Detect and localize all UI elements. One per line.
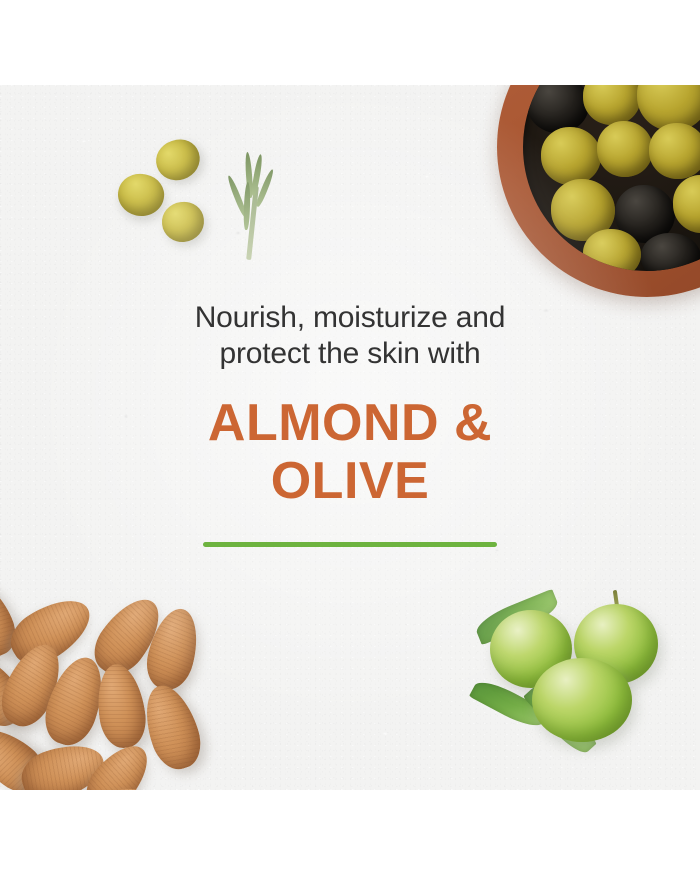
almond-cluster-image [0,580,244,790]
green-divider-rule [203,542,497,547]
subtitle-line-2: protect the skin with [220,337,481,370]
green-olive [673,175,700,233]
green-olive [583,85,641,125]
subtitle-line-1: Nourish, moisturize and [195,301,506,334]
green-olive-cluster-image [470,580,670,760]
green-olive [649,123,700,179]
green-olive [597,121,653,177]
banner-headline: ALMOND & OLIVE [0,394,700,510]
bowl-interior [523,85,700,271]
olive-trio-image [110,140,300,270]
small-olive [160,200,206,244]
black-olive [641,233,700,271]
banner-text-block: Nourish, moisturize and protect the skin… [0,300,700,547]
rosemary-sprig [220,152,290,262]
banner-subtitle: Nourish, moisturize and protect the skin… [0,300,700,372]
small-olive [151,134,205,186]
almond [92,661,149,751]
green-olive [532,658,632,742]
headline-line-2: OLIVE [271,452,430,510]
headline-line-1: ALMOND & [208,394,492,452]
green-olive [541,127,601,185]
small-olive [114,170,168,221]
product-benefit-banner: Nourish, moisturize and protect the skin… [0,0,700,875]
black-olive [527,85,589,133]
olive-bowl-image [497,85,700,297]
